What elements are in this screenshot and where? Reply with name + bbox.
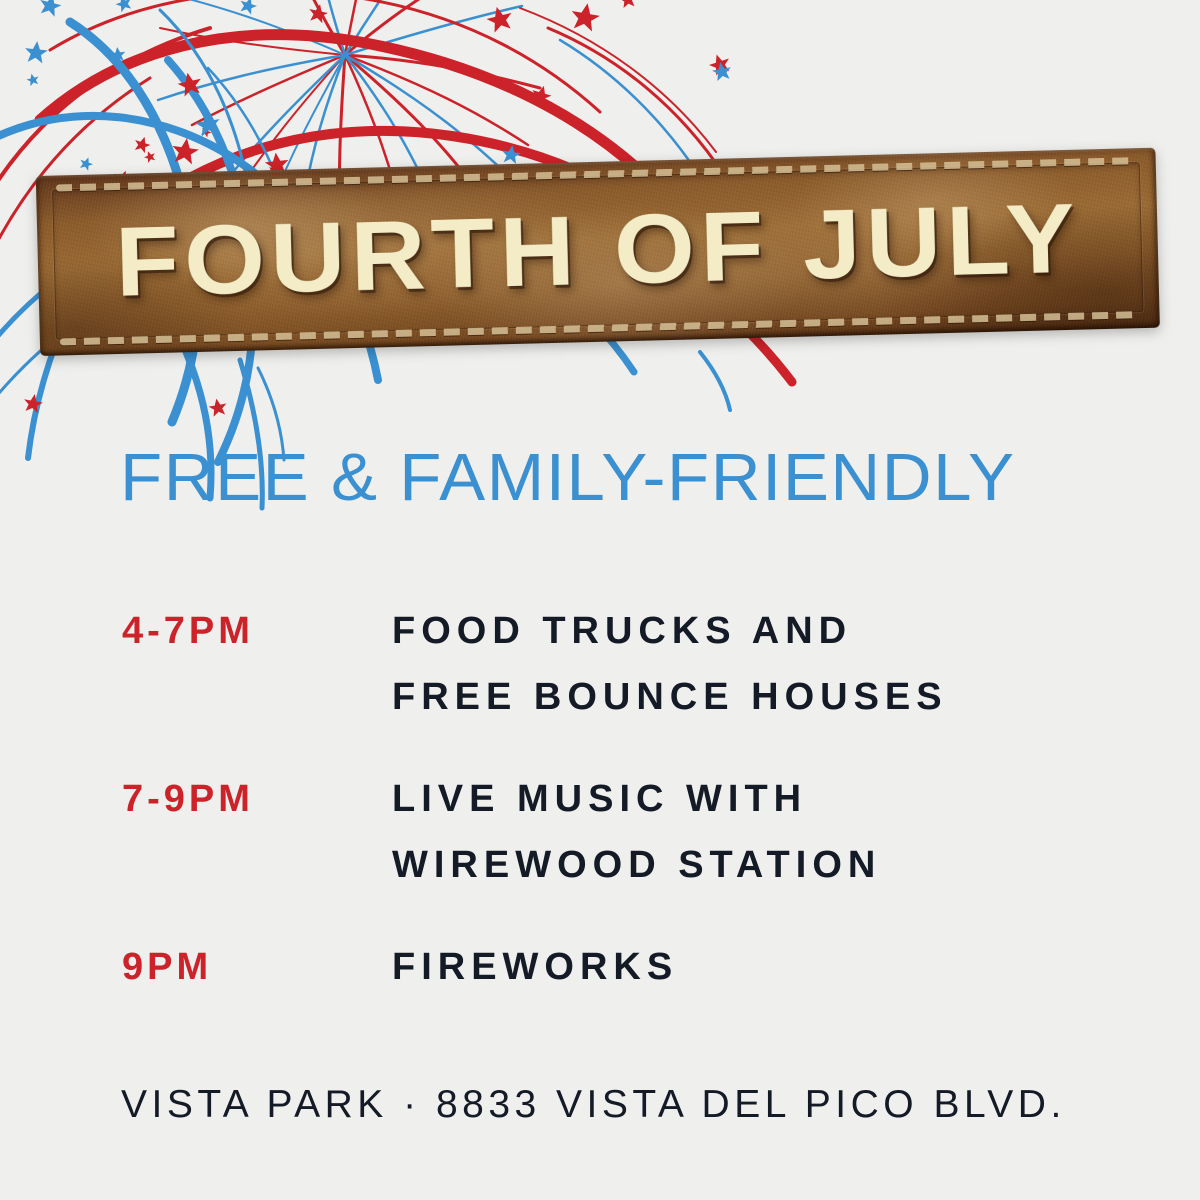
event-schedule: 4-7PM FOOD TRUCKS AND FREE BOUNCE HOUSES… bbox=[122, 598, 1122, 1000]
event-title: FOURTH OF JULY bbox=[2, 147, 1193, 357]
leather-banner: FOURTH OF JULY bbox=[36, 148, 1160, 356]
schedule-description: FOOD TRUCKS AND FREE BOUNCE HOUSES bbox=[392, 598, 1122, 730]
poster-canvas: FOURTH OF JULY FREE & FAMILY-FRIENDLY 4-… bbox=[0, 0, 1200, 1200]
schedule-time: 9PM bbox=[122, 934, 392, 1000]
event-subtitle: FREE & FAMILY-FRIENDLY bbox=[120, 444, 1016, 511]
event-address: VISTA PARK · 8833 VISTA DEL PICO BLVD. bbox=[121, 1085, 1066, 1124]
schedule-time: 4-7PM bbox=[122, 598, 392, 664]
schedule-description-line: FREE BOUNCE HOUSES bbox=[392, 664, 1122, 730]
schedule-description-line: FOOD TRUCKS AND bbox=[392, 598, 1122, 664]
schedule-description-line: FIREWORKS bbox=[392, 934, 1122, 1000]
schedule-description: FIREWORKS bbox=[392, 934, 1122, 1000]
schedule-row: 4-7PM FOOD TRUCKS AND FREE BOUNCE HOUSES bbox=[122, 598, 1122, 730]
schedule-description-line: WIREWOOD STATION bbox=[392, 832, 1122, 898]
schedule-time: 7-9PM bbox=[122, 766, 392, 832]
schedule-row: 9PM FIREWORKS bbox=[122, 934, 1122, 1000]
schedule-description-line: LIVE MUSIC WITH bbox=[392, 766, 1122, 832]
schedule-row: 7-9PM LIVE MUSIC WITH WIREWOOD STATION bbox=[122, 766, 1122, 898]
schedule-description: LIVE MUSIC WITH WIREWOOD STATION bbox=[392, 766, 1122, 898]
